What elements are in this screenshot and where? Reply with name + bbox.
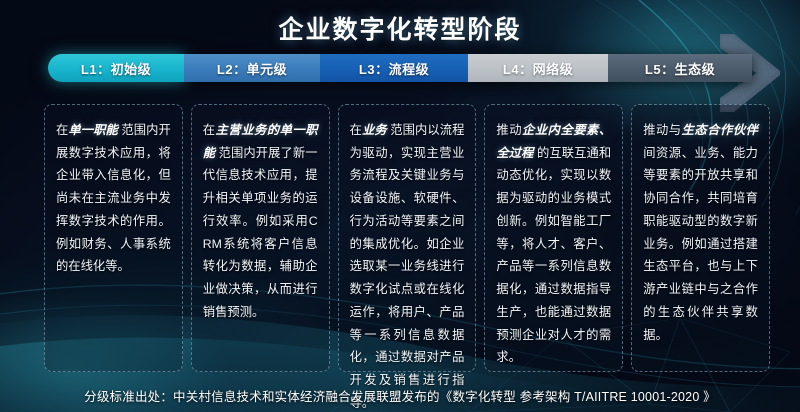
- stage-card-l5-body: 间资源、业务、能力等要素的开放共享和协同合作，共同培育职能驱动型的数字新业务。例…: [643, 146, 758, 342]
- stage-card-l3: 在业务 范围内以流程为驱动，实现主营业务流程及关键业务与设备设施、软硬件、行为活…: [338, 104, 477, 372]
- stage-card-l4-body: 的互联互通和动态优化，实现以数据为驱动的业务模式创新。例如智能工厂等，将人才、客…: [496, 146, 611, 365]
- stage-card-l1-lead: 在: [56, 123, 68, 137]
- stage-card-l3-body: 范围内以流程为驱动，实现主营业务流程及关键业务与设备设施、软硬件、行为活动等要素…: [350, 123, 465, 410]
- stage-card-l1-body: 范围内开展数字技术应用，将企业带入信息化，但尚未在主流业务中发挥数字技术的作用。…: [56, 123, 171, 273]
- stage-card-l4-text: 推动企业内全要素、全过程 的互联互通和动态优化，实现以数据为驱动的业务模式创新。…: [496, 119, 611, 369]
- stage-card-l2-text: 在主营业务的单一职能 范围内开展了新一代信息技术应用，提升相关单项业务的运行效率…: [203, 119, 318, 324]
- stage-card-l2-body: 范围内开展了新一代信息技术应用，提升相关单项业务的运行效率。例如采用CRM系统将…: [203, 146, 318, 319]
- stage-card-l4-lead: 推动: [496, 123, 522, 137]
- stage-card-l5-lead: 推动与: [643, 123, 681, 137]
- slide-canvas: 企业数字化转型阶段 L1：初始级 L2：单元级 L3：流程级 L4：网络级 L5…: [0, 0, 800, 412]
- stage-card-l3-text: 在业务 范围内以流程为驱动，实现主营业务流程及关键业务与设备设施、软硬件、行为活…: [350, 119, 465, 412]
- maturity-level-bar: L1：初始级 L2：单元级 L3：流程级 L4：网络级 L5：生态级: [48, 54, 752, 82]
- level-segment-l3-label: L3：流程级: [359, 59, 429, 78]
- level-segment-l2[interactable]: L2：单元级: [184, 54, 320, 82]
- stage-card-l2: 在主营业务的单一职能 范围内开展了新一代信息技术应用，提升相关单项业务的运行效率…: [191, 104, 330, 372]
- level-segment-l1-label: L1：初始级: [81, 59, 151, 78]
- level-segment-l1[interactable]: L1：初始级: [48, 54, 184, 82]
- stage-card-l5-emphasis: 生态合作伙伴: [682, 123, 758, 137]
- level-segment-l2-label: L2：单元级: [217, 59, 287, 78]
- page-title: 企业数字化转型阶段: [0, 10, 800, 46]
- stage-card-l2-lead: 在: [203, 123, 216, 137]
- stage-card-l5: 推动与生态合作伙伴 间资源、业务、能力等要素的开放共享和协同合作，共同培育职能驱…: [631, 104, 770, 372]
- stage-card-l1-text: 在单一职能 范围内开展数字技术应用，将企业带入信息化，但尚未在主流业务中发挥数字…: [56, 119, 171, 278]
- stage-card-l1: 在单一职能 范围内开展数字技术应用，将企业带入信息化，但尚未在主流业务中发挥数字…: [44, 104, 183, 372]
- stage-card-l5-text: 推动与生态合作伙伴 间资源、业务、能力等要素的开放共享和协同合作，共同培育职能驱…: [643, 119, 758, 346]
- stage-cards: 在单一职能 范围内开展数字技术应用，将企业带入信息化，但尚未在主流业务中发挥数字…: [44, 104, 770, 372]
- level-segment-l5[interactable]: L5：生态级: [608, 54, 752, 82]
- stage-card-l3-emphasis: 业务: [362, 123, 387, 137]
- level-segment-l4-label: L4：网络级: [503, 59, 573, 78]
- stage-card-l4: 推动企业内全要素、全过程 的互联互通和动态优化，实现以数据为驱动的业务模式创新。…: [484, 104, 623, 372]
- source-note-text: 分级标准出处：中关村信息技术和实体经济融合发展联盟发布的《数字化转型 参考架构 …: [84, 386, 716, 405]
- stage-card-l3-lead: 在: [350, 123, 362, 137]
- level-segment-l5-label: L5：生态级: [645, 59, 715, 78]
- stage-card-l1-emphasis: 单一职能: [68, 123, 118, 137]
- source-note: 分级标准出处：中关村信息技术和实体经济融合发展联盟发布的《数字化转型 参考架构 …: [0, 386, 800, 406]
- level-segment-l4[interactable]: L4：网络级: [468, 54, 608, 82]
- page-title-text: 企业数字化转型阶段: [278, 10, 521, 46]
- level-segment-l3[interactable]: L3：流程级: [320, 54, 468, 82]
